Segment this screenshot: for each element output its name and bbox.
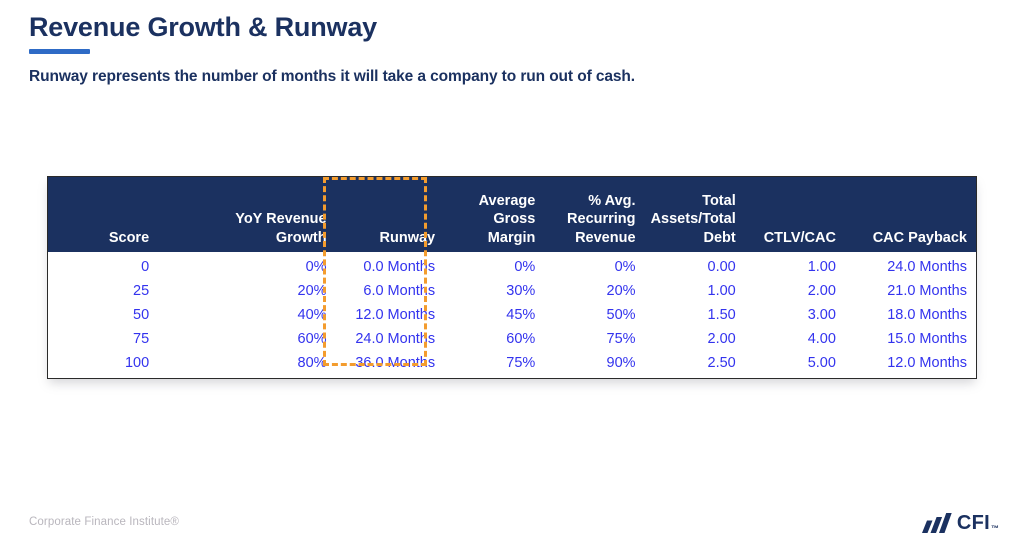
- table-row: 0 0% 0.0 Months 0% 0% 0.00 1.00 24.0 Mon…: [48, 252, 977, 279]
- table-body: 0 0% 0.0 Months 0% 0% 0.00 1.00 24.0 Mon…: [48, 252, 977, 379]
- table-header: Score YoY Revenue Growth Runway Average …: [48, 177, 977, 253]
- column-header-average-gross-margin: Average Gross Margin: [444, 177, 544, 253]
- cell-margin: 75%: [444, 351, 544, 379]
- cell-payback: 24.0 Months: [845, 252, 977, 279]
- column-header-total-assets-total-debt: Total Assets/Total Debt: [645, 177, 745, 253]
- cell-payback: 12.0 Months: [845, 351, 977, 379]
- cell-margin: 45%: [444, 303, 544, 327]
- table-row: 100 80% 36.0 Months 75% 90% 2.50 5.00 12…: [48, 351, 977, 379]
- cell-arr: 75%: [544, 327, 644, 351]
- cell-debt: 2.50: [645, 351, 745, 379]
- column-header-ctlv-cac: CTLV/CAC: [745, 177, 845, 253]
- cell-yoy: 20%: [158, 279, 335, 303]
- table-header-row: Score YoY Revenue Growth Runway Average …: [48, 177, 977, 253]
- cell-ctlv: 5.00: [745, 351, 845, 379]
- cell-yoy: 40%: [158, 303, 335, 327]
- page-title: Revenue Growth & Runway: [29, 10, 377, 44]
- metrics-table-container: Score YoY Revenue Growth Runway Average …: [47, 176, 977, 379]
- cell-margin: 60%: [444, 327, 544, 351]
- cell-score: 75: [48, 327, 159, 351]
- title-block: Revenue Growth & Runway: [29, 10, 377, 54]
- cell-score: 100: [48, 351, 159, 379]
- cell-payback: 18.0 Months: [845, 303, 977, 327]
- cell-arr: 50%: [544, 303, 644, 327]
- cell-ctlv: 2.00: [745, 279, 845, 303]
- cfi-logo-bars-icon: [922, 513, 952, 533]
- cell-debt: 1.00: [645, 279, 745, 303]
- cell-payback: 15.0 Months: [845, 327, 977, 351]
- table-row: 25 20% 6.0 Months 30% 20% 1.00 2.00 21.0…: [48, 279, 977, 303]
- metrics-table: Score YoY Revenue Growth Runway Average …: [47, 176, 977, 379]
- cfi-logo-text: CFI: [957, 513, 990, 533]
- footer-attribution: Corporate Finance Institute®: [29, 516, 179, 528]
- cell-arr: 20%: [544, 279, 644, 303]
- column-header-yoy-revenue-growth: YoY Revenue Growth: [158, 177, 335, 253]
- cell-margin: 0%: [444, 252, 544, 279]
- table-row: 50 40% 12.0 Months 45% 50% 1.50 3.00 18.…: [48, 303, 977, 327]
- cell-runway: 24.0 Months: [336, 327, 445, 351]
- cell-runway: 12.0 Months: [336, 303, 445, 327]
- column-header-cac-payback: CAC Payback: [845, 177, 977, 253]
- cell-yoy: 0%: [158, 252, 335, 279]
- cell-arr: 0%: [544, 252, 644, 279]
- cell-yoy: 80%: [158, 351, 335, 379]
- title-accent-rule: [29, 49, 90, 54]
- cell-runway: 0.0 Months: [336, 252, 445, 279]
- cell-runway: 36.0 Months: [336, 351, 445, 379]
- table-row: 75 60% 24.0 Months 60% 75% 2.00 4.00 15.…: [48, 327, 977, 351]
- cell-score: 25: [48, 279, 159, 303]
- column-header-runway: Runway: [336, 177, 445, 253]
- cfi-logo: CFI ™: [922, 510, 999, 536]
- cell-score: 50: [48, 303, 159, 327]
- cell-ctlv: 1.00: [745, 252, 845, 279]
- cell-margin: 30%: [444, 279, 544, 303]
- column-header-score: Score: [48, 177, 159, 253]
- cell-arr: 90%: [544, 351, 644, 379]
- cfi-logo-trademark: ™: [991, 524, 999, 536]
- cell-ctlv: 3.00: [745, 303, 845, 327]
- page-subtitle: Runway represents the number of months i…: [29, 68, 635, 86]
- cell-runway: 6.0 Months: [336, 279, 445, 303]
- cell-debt: 1.50: [645, 303, 745, 327]
- cell-debt: 2.00: [645, 327, 745, 351]
- cell-debt: 0.00: [645, 252, 745, 279]
- cell-payback: 21.0 Months: [845, 279, 977, 303]
- cell-yoy: 60%: [158, 327, 335, 351]
- cell-ctlv: 4.00: [745, 327, 845, 351]
- column-header-pct-avg-recurring-revenue: % Avg. Recurring Revenue: [544, 177, 644, 253]
- cell-score: 0: [48, 252, 159, 279]
